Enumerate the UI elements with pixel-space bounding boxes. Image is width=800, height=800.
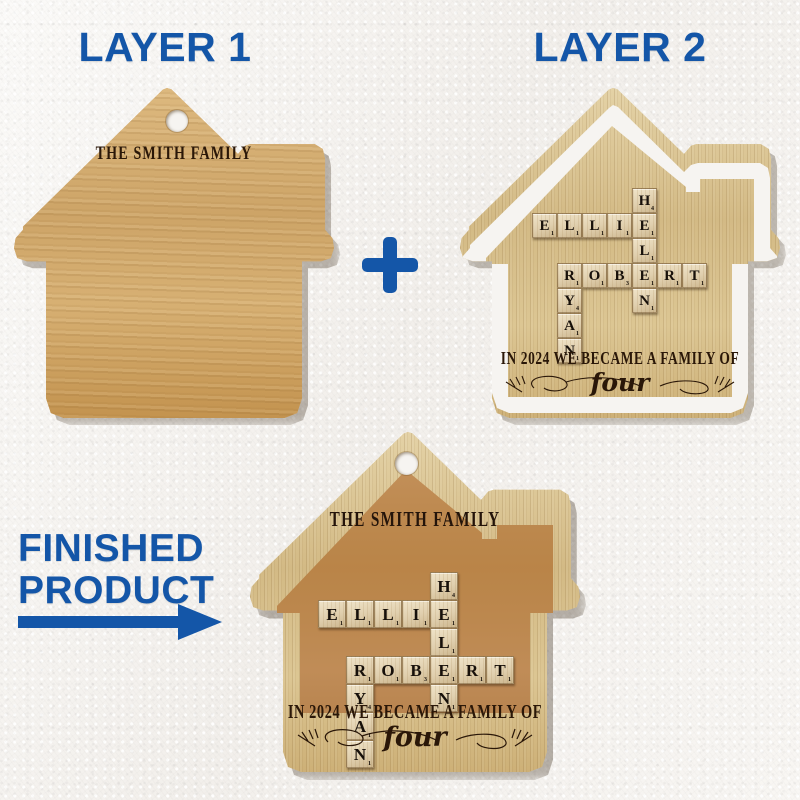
scrabble-tile-value: 1 [576,281,579,288]
scrabble-tile-t: T1 [486,656,514,684]
scrabble-tile-letter: L [438,633,449,652]
layer2-banner-flourish [482,368,758,402]
scrabble-tile-letter: L [382,605,393,624]
scrabble-tile-o: O1 [582,263,607,288]
scrabble-tile-value: 1 [368,677,371,684]
scrabble-tile-letter: R [564,268,575,284]
scrabble-tile-value: 1 [651,231,654,238]
scrabble-tile-value: 1 [452,621,455,628]
scrabble-tile-l: L1 [346,600,374,628]
scrabble-tile-letter: N [639,293,650,309]
scrabble-tile-letter: B [614,268,624,284]
scrabble-tile-letter: O [381,661,394,680]
scrabble-tile-letter: B [410,661,421,680]
scrabble-tile-value: 1 [551,231,554,238]
scrabble-tile-value: 1 [396,621,399,628]
scrabble-tile-letter: L [639,243,649,259]
scrabble-tile-letter: O [589,268,601,284]
scrabble-tile-value: 3 [424,677,427,684]
scrabble-tile-value: 1 [601,281,604,288]
scrabble-tile-letter: Y [564,293,575,309]
scrabble-tile-t: T1 [682,263,707,288]
scrabble-tile-a: A1 [557,313,582,338]
scrabble-tile-h: H4 [632,188,657,213]
scrabble-tile-letter: I [617,218,623,234]
scrabble-tile-letter: T [689,268,699,284]
scrabble-tile-value: 1 [396,677,399,684]
scrabble-tile-e: E1 [632,213,657,238]
scrabble-tile-l: L1 [374,600,402,628]
scrabble-tile-l: L1 [582,213,607,238]
scrabble-tile-n: N1 [632,288,657,313]
finished-engraved-family-name: THE SMITH FAMILY [258,509,572,532]
scrabble-tile-h: H4 [430,572,458,600]
scrabble-tile-i: I1 [607,213,632,238]
scrabble-tile-o: O1 [374,656,402,684]
scrabble-tile-letter: R [466,661,478,680]
scrabble-tile-value: 1 [368,761,371,768]
scrabble-tile-value: 1 [651,306,654,313]
scrabble-tile-value: 1 [601,231,604,238]
scrabble-tile-value: 4 [452,593,455,600]
scrabble-tile-letter: E [438,661,449,680]
layer2-banner: IN 2024 WE BECAME A FAMILY OF four [482,352,758,402]
finished-banner-script-wrap: four [274,722,556,756]
scrabble-tile-value: 1 [508,677,511,684]
scrabble-tile-e: E1 [430,600,458,628]
scrabble-tile-letter: T [494,661,505,680]
scrabble-tile-letter: E [639,268,649,284]
finished-banner-flourish [274,722,556,756]
finished-product-title: FINISHED PRODUCT [18,528,214,612]
layer2-crossword-tiles: H4E1L1L1I1E1L1R1O1B3E1R1T1N1Y4A1N1 [532,188,712,368]
scrabble-tile-value: 1 [424,621,427,628]
scrabble-tile-l: L1 [430,628,458,656]
scrabble-tile-l: L1 [632,238,657,263]
layer1-wood-board [14,88,334,418]
layer2-banner-script-wrap: four [482,368,758,402]
scrabble-tile-value: 1 [452,649,455,656]
layer1-engraved-family-name: THE SMITH FAMILY [24,144,325,166]
scrabble-tile-letter: R [354,661,366,680]
scrabble-tile-value: 1 [340,621,343,628]
scrabble-tile-y: Y4 [557,288,582,313]
scrabble-tile-b: B3 [402,656,430,684]
scrabble-tile-r: R1 [458,656,486,684]
scrabble-tile-letter: I [413,605,420,624]
scrabble-tile-letter: E [639,218,649,234]
scrabble-tile-value: 4 [651,206,654,213]
scrabble-tile-letter: E [539,218,549,234]
layer2-title: LAYER 2 [455,24,785,71]
scrabble-tile-letter: E [326,605,337,624]
scrabble-tile-l: L1 [557,213,582,238]
scrabble-tile-value: 1 [452,677,455,684]
finished-hang-hole [395,452,418,475]
finished-title-line1: FINISHED [18,528,214,570]
scrabble-tile-e: E1 [318,600,346,628]
scrabble-tile-value: 1 [651,281,654,288]
scrabble-tile-letter: A [564,318,575,334]
scrabble-tile-letter: L [354,605,365,624]
plus-icon-vertical-bar [383,237,397,293]
scrabble-tile-value: 1 [676,281,679,288]
finished-product-ornament: THE SMITH FAMILY H4E1L1L1I1E1L1R1O1B3E1R… [250,432,580,772]
scrabble-tile-e: E1 [632,263,657,288]
scrabble-tile-i: I1 [402,600,430,628]
layer1-title: LAYER 1 [0,24,330,71]
scrabble-tile-value: 1 [651,256,654,263]
plus-icon [362,237,418,293]
scrabble-tile-letter: H [639,193,651,209]
scrabble-tile-r: R1 [557,263,582,288]
scrabble-tile-b: B3 [607,263,632,288]
layer1-hang-hole [166,110,188,132]
scrabble-tile-value: 1 [368,621,371,628]
scrabble-tile-letter: H [437,577,450,596]
arrow-right-icon [18,602,223,642]
scrabble-tile-letter: E [438,605,449,624]
scrabble-tile-value: 1 [626,231,629,238]
scrabble-tile-e: E1 [430,656,458,684]
scrabble-tile-letter: L [564,218,574,234]
layer1-ornament: THE SMITH FAMILY [14,88,334,418]
scrabble-tile-value: 4 [576,306,579,313]
scrabble-tile-value: 1 [701,281,704,288]
scrabble-tile-e: E1 [532,213,557,238]
layer2-ornament: H4E1L1L1I1E1L1R1O1B3E1R1T1N1Y4A1N1 IN 20… [460,88,780,418]
scrabble-tile-r: R1 [346,656,374,684]
scrabble-tile-letter: L [589,218,599,234]
scrabble-tile-value: 3 [626,281,629,288]
finished-banner: IN 2024 WE BECAME A FAMILY OF four [274,705,556,756]
scrabble-tile-r: R1 [657,263,682,288]
scrabble-tile-letter: R [664,268,675,284]
scrabble-tile-value: 1 [576,231,579,238]
scrabble-tile-value: 1 [480,677,483,684]
scrabble-tile-value: 1 [576,331,579,338]
